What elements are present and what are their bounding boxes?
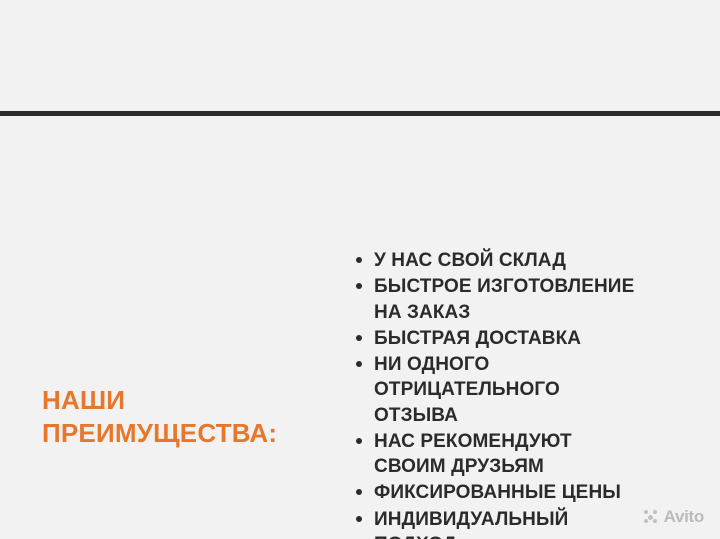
list-item-label: НАС РЕКОМЕНДУЮТ СВОИМ ДРУЗЬЯМ: [374, 429, 702, 480]
list-item: НИ ОДНОГО ОТРИЦАТЕЛЬНОГО ОТЗЫВА: [352, 352, 702, 428]
advantages-list: У НАС СВОЙ СКЛАД БЫСТРОЕ ИЗГОТОВЛЕНИЕ НА…: [352, 248, 702, 539]
page-title-line-1: НАШИ: [42, 384, 342, 417]
slide: НАШИ ПРЕИМУЩЕСТВА: У НАС СВОЙ СКЛАД БЫСТ…: [0, 0, 720, 539]
avito-watermark-label: Avito: [664, 507, 704, 527]
page-title-line-2: ПРЕИМУЩЕСТВА:: [42, 417, 342, 450]
page-title: НАШИ ПРЕИМУЩЕСТВА:: [42, 384, 342, 451]
bullet-dot-icon: [356, 257, 362, 263]
avito-dots-icon: [643, 509, 659, 525]
list-item-label: БЫСТРОЕ ИЗГОТОВЛЕНИЕ НА ЗАКАЗ: [374, 274, 702, 325]
slide-body: НАШИ ПРЕИМУЩЕСТВА: У НАС СВОЙ СКЛАД БЫСТ…: [0, 116, 720, 539]
avito-watermark: Avito: [643, 507, 704, 527]
list-item-label: ФИКСИРОВАННЫЕ ЦЕНЫ: [374, 480, 702, 505]
top-band: [0, 0, 720, 111]
bullet-dot-icon: [356, 335, 362, 341]
list-item: БЫСТРАЯ ДОСТАВКА: [352, 326, 702, 351]
list-item: У НАС СВОЙ СКЛАД: [352, 248, 702, 273]
list-item-label: НИ ОДНОГО ОТРИЦАТЕЛЬНОГО ОТЗЫВА: [374, 352, 702, 428]
list-item: БЫСТРОЕ ИЗГОТОВЛЕНИЕ НА ЗАКАЗ: [352, 274, 702, 325]
list-item-label: У НАС СВОЙ СКЛАД: [374, 248, 702, 273]
bullet-dot-icon: [356, 489, 362, 495]
list-item: ФИКСИРОВАННЫЕ ЦЕНЫ: [352, 480, 702, 505]
bullet-dot-icon: [356, 283, 362, 289]
list-item-label: БЫСТРАЯ ДОСТАВКА: [374, 326, 702, 351]
bullet-dot-icon: [356, 361, 362, 367]
bullet-dot-icon: [356, 438, 362, 444]
bullet-dot-icon: [356, 516, 362, 522]
list-item: НАС РЕКОМЕНДУЮТ СВОИМ ДРУЗЬЯМ: [352, 429, 702, 480]
